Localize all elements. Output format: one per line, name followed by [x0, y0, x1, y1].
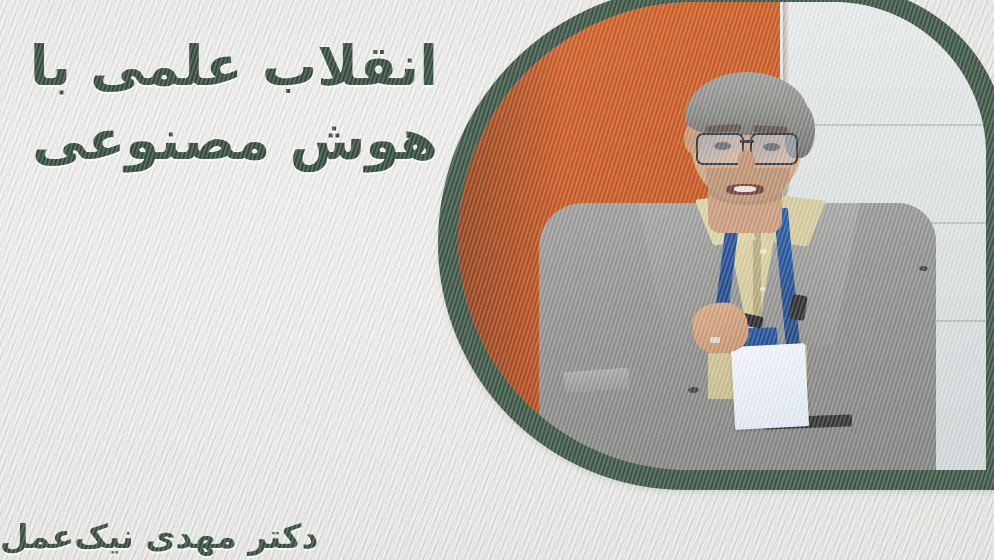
event-poster: انقلاب علمی با هوش مصنوعی دوشنبه ۱۷ آذرم… — [0, 0, 994, 560]
speaker-name: دکتر مهدی نیک‌عمل — [0, 517, 976, 556]
speaker-figure — [490, 53, 986, 470]
title-line-1: انقلاب علمی با — [38, 30, 438, 104]
title-line-2: هوش مصنوعی — [38, 104, 438, 178]
speaker-photo-frame — [438, 0, 994, 490]
speaker-photo — [458, 2, 986, 470]
page-title: انقلاب علمی با هوش مصنوعی — [38, 30, 438, 177]
speaker-name-text: دکتر مهدی نیک‌عمل — [0, 517, 318, 556]
